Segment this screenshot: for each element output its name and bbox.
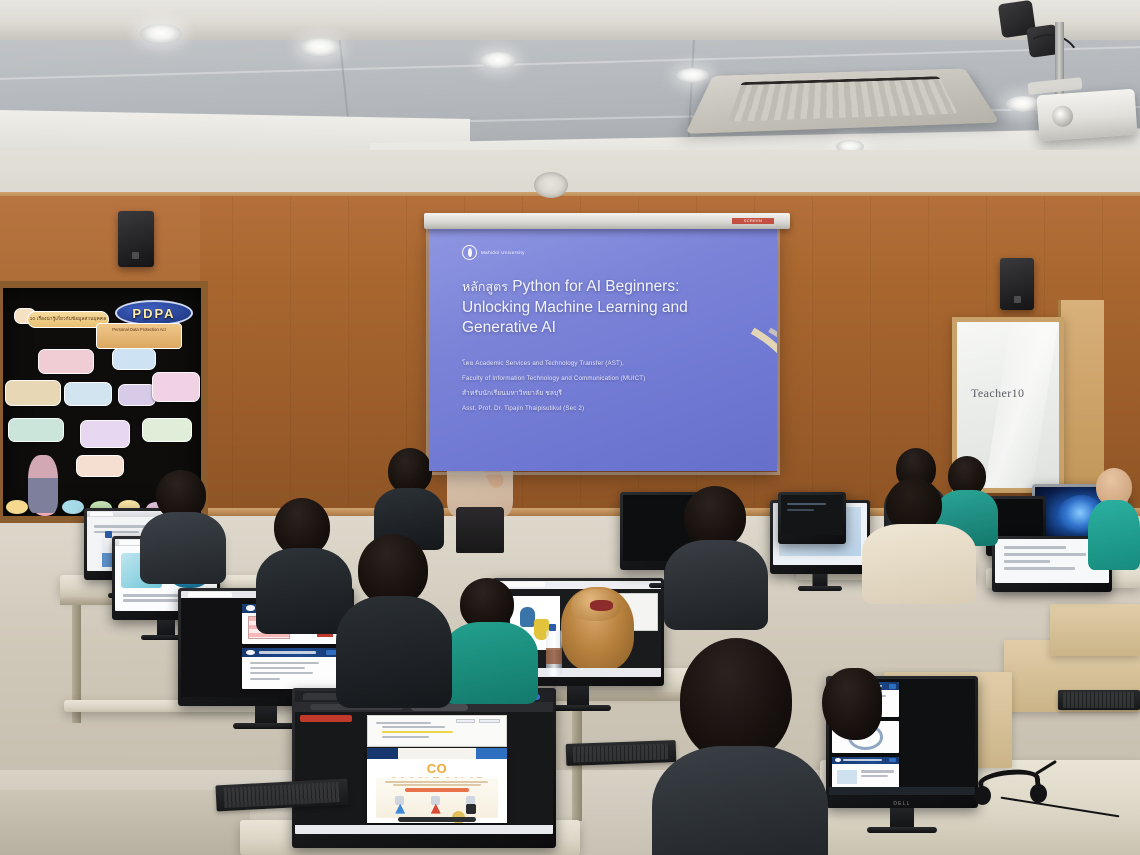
content-line	[382, 736, 429, 738]
meet-controls[interactable]	[398, 817, 476, 822]
content-line	[250, 678, 280, 680]
toolbar-button[interactable]	[456, 719, 475, 724]
projector	[1037, 89, 1138, 142]
ceiling-downlight	[480, 52, 516, 69]
content-line	[382, 726, 445, 728]
monitor-google-colab[interactable]: CO GOOGLE COLAB	[292, 688, 556, 848]
feature-icon	[431, 796, 440, 805]
monitor-stand	[567, 686, 589, 706]
feature-icon	[395, 796, 404, 805]
monitor-base	[798, 586, 842, 591]
dell-brand-label: DELL	[893, 801, 910, 807]
projection-screen-housing: SCREEN	[424, 213, 790, 229]
slide-header	[367, 748, 506, 759]
alarm-siren-icon	[534, 172, 568, 198]
monitor-stand	[890, 808, 914, 828]
highlighted-line	[382, 731, 453, 733]
browser-tab[interactable]	[90, 512, 112, 516]
google-colab-slide: CO GOOGLE COLAB	[367, 748, 506, 822]
student	[442, 578, 538, 698]
board-bubble	[76, 455, 124, 477]
board-bubble	[80, 420, 130, 448]
content-line	[250, 662, 319, 664]
content-line	[787, 503, 825, 505]
slide-title-line2: Unlocking Machine Learning and	[462, 299, 688, 316]
ceiling-downlight	[140, 24, 182, 44]
board-bubble	[118, 384, 156, 406]
slide-subtitle-line2: Faculty of Information Technology and Co…	[462, 372, 742, 387]
slide-subtitle-line4: Asst. Prof. Dr. Tipajin Thaipisutikul (S…	[462, 402, 742, 417]
content-line	[787, 509, 814, 511]
board-bubble	[112, 348, 156, 370]
content-line	[1004, 560, 1050, 563]
board-bubble	[64, 382, 112, 406]
board-figure-cutout	[28, 455, 58, 513]
board-bubble	[142, 418, 192, 442]
ceiling-downlight	[300, 38, 340, 57]
drive-icon	[395, 804, 405, 814]
air-conditioner-vent	[728, 77, 958, 122]
content-line	[123, 599, 178, 602]
slide-title-line1: Python for AI Beginners:	[512, 278, 679, 295]
student	[1088, 468, 1140, 564]
slide-subtitle-line3: สำหรับนักเรียนมหาวิทยาลัย ชลบุรี	[462, 386, 742, 401]
content-line	[385, 781, 488, 783]
presenter-skirt	[456, 507, 504, 553]
taskbar[interactable]	[829, 787, 975, 795]
laptop-screen: CO GOOGLE COLAB	[295, 691, 553, 834]
headset-earcup	[974, 786, 991, 805]
student	[822, 668, 886, 768]
wall-speaker-icon	[118, 211, 154, 267]
ceiling-downlight	[676, 68, 709, 83]
board-bubble	[5, 380, 61, 406]
student	[862, 478, 976, 590]
student	[664, 486, 768, 616]
board-bubble	[38, 349, 94, 374]
baseboard	[0, 790, 250, 855]
monitor-base	[867, 827, 937, 833]
whiteboard-text: Teacher10	[971, 386, 1024, 401]
recording-indicator	[300, 715, 352, 722]
shared-code-panel	[367, 715, 506, 746]
colab-slide-body	[376, 778, 499, 818]
colab-pill	[405, 788, 469, 792]
ceiling-downlight	[1006, 96, 1040, 112]
monitor-stand	[255, 706, 277, 724]
classroom-photo: Teacher10 10 เรื่องน่ารู้เกี่ยวกับข้อมูล…	[0, 0, 1140, 855]
screen-brand-label: SCREEN	[732, 218, 774, 224]
drink-bottle	[546, 630, 562, 676]
air-conditioner-unit	[685, 68, 999, 133]
browser-tab[interactable]	[188, 592, 232, 597]
mahidol-university-logo: Mahidol University	[462, 245, 525, 260]
taskbar[interactable]	[295, 825, 553, 834]
camera-icon	[466, 804, 476, 814]
slide-header-title	[259, 651, 316, 654]
slide-title: หลักสูตร Python for AI Beginners: Unlock…	[462, 277, 734, 339]
projector-lens	[1051, 105, 1073, 127]
content-line	[1004, 553, 1086, 556]
monitor-dark-small[interactable]	[778, 492, 846, 544]
snake-mouth	[590, 600, 613, 611]
logo-icon	[246, 650, 255, 655]
desk-partition	[1050, 604, 1140, 656]
wall-speaker-icon	[1000, 258, 1034, 310]
content-line	[376, 722, 431, 724]
colab-co-text: CO	[367, 761, 506, 776]
pdpa-subheadline: Personal Data Protection Act	[96, 323, 182, 349]
student-foreground	[652, 638, 828, 855]
student	[140, 470, 226, 580]
content-line	[861, 770, 893, 772]
toolbar-button[interactable]	[479, 719, 500, 724]
headset-earcup	[1030, 784, 1047, 803]
content-line	[250, 672, 313, 674]
slide-title-line3: Generative AI	[462, 319, 556, 336]
upload-icon	[431, 804, 441, 814]
monitor-screen	[781, 495, 843, 535]
mahidol-crest-icon	[462, 245, 477, 260]
monitor-stand	[157, 620, 175, 636]
content-line	[393, 784, 481, 786]
slide-card	[242, 648, 341, 688]
slide-subtitle: โดย Academic Services and Technology Tra…	[462, 357, 742, 416]
keyboard[interactable]	[1058, 690, 1140, 710]
board-bubble	[152, 372, 200, 402]
slide-subtitle-line1: โดย Academic Services and Technology Tra…	[462, 357, 742, 372]
content-line	[1004, 546, 1066, 549]
slide-title-thai-prefix: หลักสูตร	[462, 280, 508, 294]
logo-icon	[246, 605, 255, 610]
monitor-base	[233, 723, 299, 729]
projection-screen: Mahidol University หลักสูตร Python for A…	[429, 229, 777, 471]
content-line	[861, 775, 888, 777]
slide-graphic	[837, 770, 857, 784]
content-line	[250, 667, 305, 669]
board-bubble	[8, 418, 64, 442]
slide-header	[242, 648, 341, 657]
content-line	[1004, 567, 1075, 570]
content-line	[94, 531, 139, 533]
board-confetti	[6, 500, 28, 514]
student	[336, 534, 452, 704]
mahidol-logo-text: Mahidol University	[481, 250, 525, 255]
board-confetti	[62, 500, 84, 514]
